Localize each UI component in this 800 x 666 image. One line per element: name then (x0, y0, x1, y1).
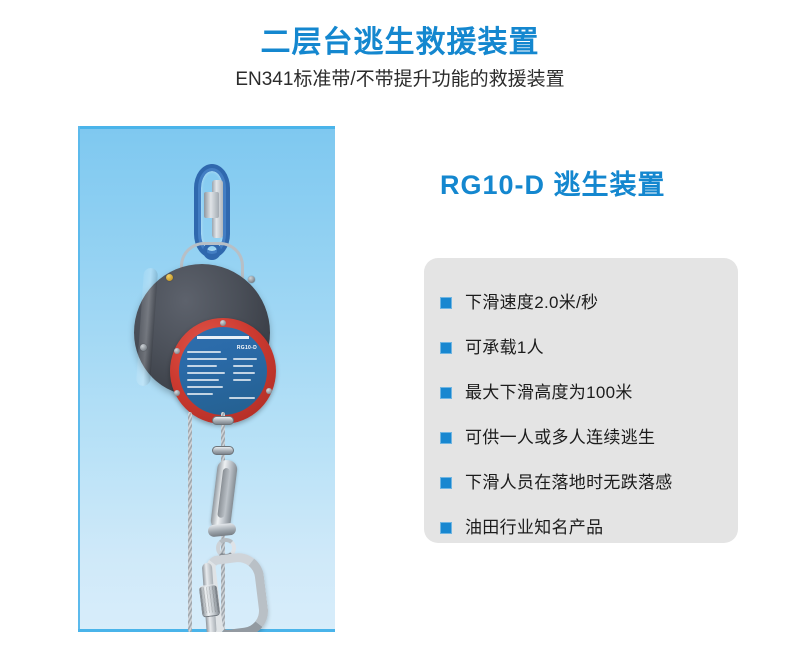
page-subtitle: EN341标准带/不带提升功能的救援装置 (0, 60, 800, 92)
list-item: 油田行业知名产品 (440, 505, 738, 550)
housing-bolt (248, 276, 255, 283)
carabiner-sleeve-knurling (200, 586, 219, 614)
label-text-line (233, 372, 255, 374)
product-model-title: RG10-D 逃生装置 (440, 163, 666, 202)
label-text-line (229, 397, 255, 399)
spec-text: 油田行业知名产品 (465, 519, 603, 536)
page-title: 二层台逃生救援装置 (0, 0, 800, 60)
ring-bolt (220, 320, 226, 326)
housing-bolt (166, 274, 173, 281)
swivel-pin (207, 523, 236, 538)
ring-bolt (174, 390, 180, 396)
ring-bolt (266, 388, 272, 394)
product-image-panel: RG10-D (78, 126, 335, 632)
device-spec-label: RG10-D (179, 327, 267, 415)
list-item: 可承载1人 (440, 325, 738, 370)
device-red-ring: RG10-D (170, 318, 276, 424)
list-item: 下滑人员在落地时无跌落感 (440, 460, 738, 505)
bottom-carabiner-icon (191, 546, 273, 632)
rope-ferrule (212, 416, 234, 425)
ring-bolt (174, 348, 180, 354)
label-text-line (187, 351, 221, 353)
label-text-line (187, 372, 225, 374)
label-text-line (187, 386, 223, 388)
spec-text: 最大下滑高度为100米 (465, 384, 633, 401)
label-title-bar (197, 336, 249, 339)
label-text-line (187, 379, 219, 381)
label-text-line (187, 365, 217, 367)
list-item: 下滑速度2.0米/秒 (440, 280, 738, 325)
label-text-line (187, 358, 227, 360)
specification-list: 下滑速度2.0米/秒 可承载1人 最大下滑高度为100米 可供一人或多人连续逃生… (424, 258, 738, 550)
bullet-square-icon (440, 522, 452, 534)
list-item: 最大下滑高度为100米 (440, 370, 738, 415)
carabiner-locking-sleeve (204, 192, 219, 218)
swivel-slot (217, 468, 230, 518)
label-text-line (233, 358, 257, 360)
rescue-device-illustration: RG10-D (78, 126, 335, 632)
specifications-panel: 下滑速度2.0米/秒 可承载1人 最大下滑高度为100米 可供一人或多人连续逃生… (424, 258, 738, 543)
housing-bolt (140, 344, 147, 351)
label-text-line (233, 379, 251, 381)
bullet-square-icon (440, 342, 452, 354)
bullet-square-icon (440, 477, 452, 489)
page-header: 二层台逃生救援装置 EN341标准带/不带提升功能的救援装置 (0, 0, 800, 92)
bullet-square-icon (440, 297, 452, 309)
wire-rope-descent-line (188, 412, 192, 632)
bullet-square-icon (440, 432, 452, 444)
spec-text: 可供一人或多人连续逃生 (465, 429, 655, 446)
swivel-link (210, 459, 238, 531)
spec-text: 下滑速度2.0米/秒 (465, 294, 598, 311)
list-item: 可供一人或多人连续逃生 (440, 415, 738, 460)
rope-ferrule (212, 446, 234, 455)
spec-text: 下滑人员在落地时无跌落感 (465, 474, 673, 491)
bullet-square-icon (440, 387, 452, 399)
label-text-line (233, 365, 253, 367)
spec-text: 可承载1人 (465, 339, 544, 356)
label-text-line (187, 393, 213, 395)
label-model-text: RG10-D (237, 345, 257, 351)
